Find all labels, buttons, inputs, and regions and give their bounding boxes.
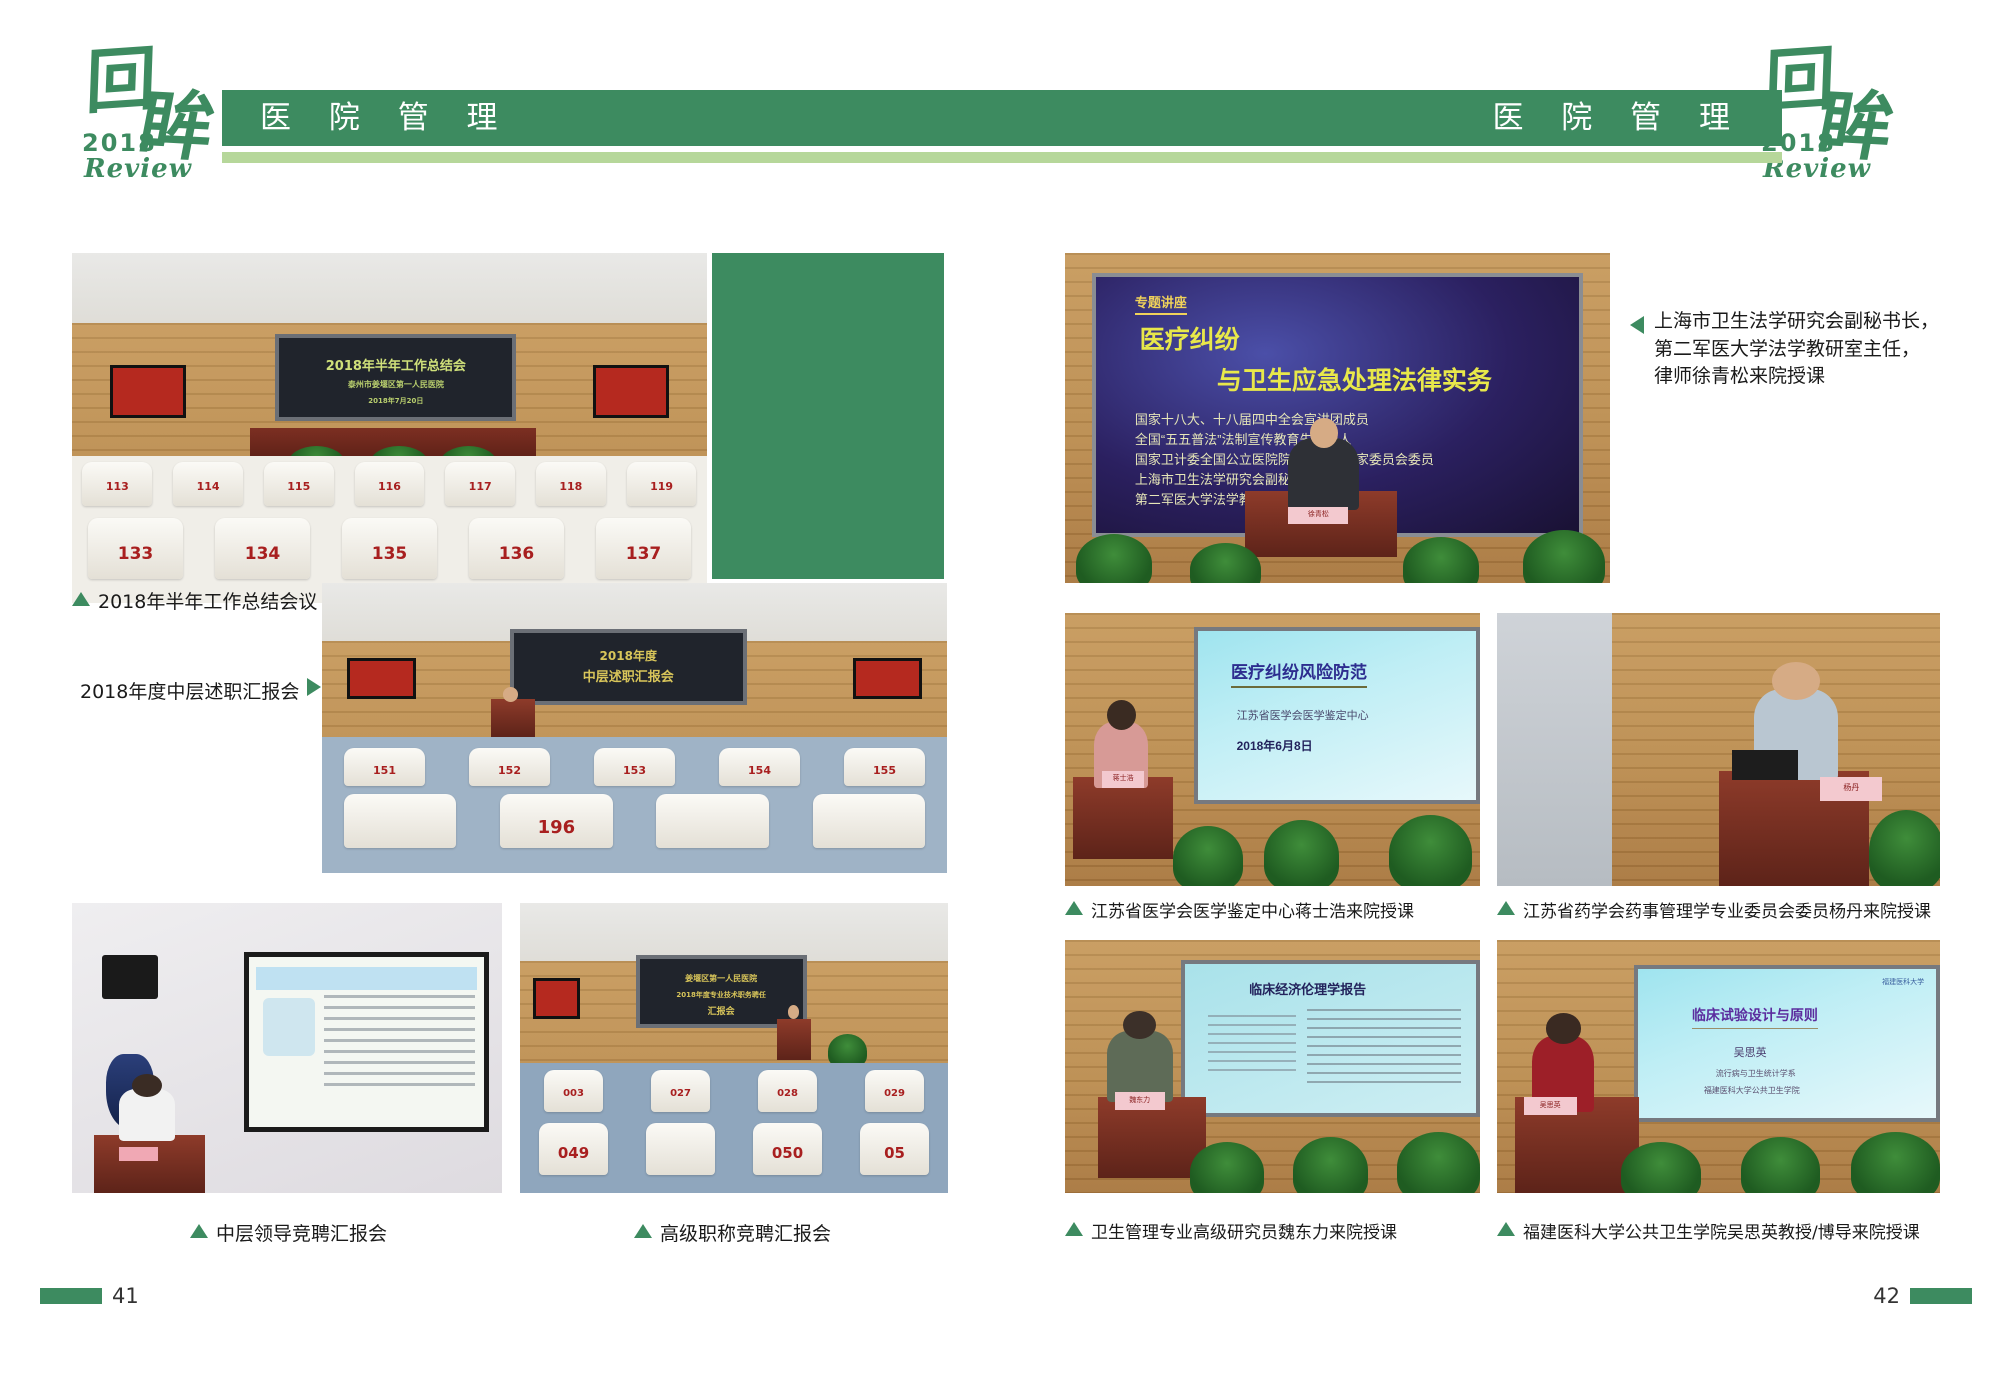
seat: 118 [536,462,606,506]
photo-podium [1073,777,1173,859]
seat [646,1123,714,1175]
photo-slide-surface: 临床经济伦理学报告 [1185,964,1476,1113]
caption-text: 高级职称竞聘汇报会 [660,1223,831,1245]
seat: 136 [469,518,564,580]
photo-slide-subtitle: 中层述职汇报会 [514,666,744,685]
seat: 196 [500,794,613,849]
photo-stage-screen: 2018年度 中层述职汇报会 [510,629,748,704]
seat: 028 [758,1070,818,1112]
caption-text: 福建医科大学公共卫生学院吴思英教授/博导来院授课 [1523,1223,1920,1243]
seat-number: 05 [860,1144,928,1162]
slide-body-line: 上海市卫生法学研究会副秘书长 [1135,470,1434,490]
seat [813,794,926,849]
photo-plant [1741,1137,1821,1193]
photo-speaker-head [1310,418,1337,448]
seat: 115 [264,462,334,506]
seat-number: 135 [342,544,437,564]
photo-slide-title: 临床试验设计与原则 [1692,1005,1818,1029]
photo-slide-tag: 专题讲座 [1135,292,1187,315]
caption-jiangsu-medical-appraisal: 江苏省医学会医学鉴定中心蒋士浩来院授课 [1065,900,1414,925]
photo-plant [1264,820,1339,886]
caption-text: 卫生管理专业高级研究员魏东力来院授课 [1091,1223,1397,1243]
seat-number: 028 [758,1088,818,1099]
slide-body-line: 全国“五五普法”法制宣传教育先进个人 [1135,430,1434,450]
seat-number: 137 [596,544,691,564]
photo-nameplate [119,1147,158,1162]
seat-number: 117 [445,480,515,493]
seat: 151 [344,748,425,786]
seat [344,794,457,849]
photo-jiangsu-medical-appraisal: 医疗纠纷风险防范 江苏省医学会医学鉴定中心 2018年6月8日 蒋士浩 [1065,613,1480,886]
seat: 113 [82,462,152,506]
photo-plant [1190,1142,1265,1193]
seat: 116 [355,462,425,506]
photo-slide-title: 姜堰区第一人民医院 [640,973,803,984]
caption-text: 中层领导竞聘汇报会 [216,1223,387,1245]
photo-stage-screen: 医疗纠纷风险防范 江苏省医学会医学鉴定中心 2018年6月8日 [1194,627,1480,804]
caption-line: 第二军医大学法学教研室主任， [1654,336,1960,364]
seat: 133 [88,518,183,580]
triangle-up-icon [1065,1222,1083,1236]
seat-row: 196 [322,794,947,849]
photo-slide-sub2: 福建医科大学公共卫生学院 [1704,1085,1800,1096]
caption-lecture-dispute-law: 上海市卫生法学研究会副秘书长， 第二军医大学法学教研室主任， 律师徐青松来院授课 [1630,308,1960,391]
footer-bar-left [40,1288,102,1304]
seat: 027 [651,1070,711,1112]
seat-row: 003 027 028 029 [520,1070,948,1112]
seat: 119 [627,462,697,506]
seat: 155 [844,748,925,786]
triangle-up-icon [1497,901,1515,915]
photo-speaker-body [1288,438,1359,511]
seat-number: 027 [651,1088,711,1099]
photo-podium [777,1019,811,1060]
photo-slide-title: 临床经济伦理学报告 [1249,979,1366,998]
seat: 003 [544,1070,604,1112]
photo-jiangsu-pharmacy-association: 杨丹 [1497,613,1940,886]
caption-meeting-2018: 2018年半年工作总结会议 [72,589,317,617]
photo-slide-title: 2018年半年工作总结会 [279,355,512,374]
photo-slide-name: 吴思英 [1734,1044,1767,1060]
seat-number: 151 [344,764,425,777]
photo-projection-screen [244,952,489,1132]
brand-logo-right: 回 眸 2018 Review [1757,44,1932,179]
seat-number: 115 [264,480,334,493]
seat-number: 003 [544,1088,604,1099]
photo-podium [94,1135,206,1193]
photo-senior-title-competition: 姜堰区第一人民医院 2018年度专业技术职务聘任 汇报会 003 027 028… [520,903,948,1193]
photo-slide-title: 2018年度 [514,647,744,664]
seat-number: 049 [539,1144,607,1162]
photo-slide-title: 医疗纠纷风险防范 [1231,658,1367,688]
page-number-right: 42 [1873,1284,1900,1308]
photo-stage-screen: 临床经济伦理学报告 [1181,960,1480,1117]
photo-plant [1293,1137,1368,1193]
seat: 134 [215,518,310,580]
seat-number: 196 [500,817,613,838]
brand-year: 2018 [82,129,157,157]
seat: 153 [594,748,675,786]
slide-body-text [1307,1009,1461,1086]
seat-number: 136 [469,544,564,564]
seat-row: 151 152 153 154 155 [322,748,947,786]
seat: 152 [469,748,550,786]
photo-nameplate: 杨丹 [1820,777,1882,802]
magazine-spread: 回 眸 2018 Review 回 眸 2018 Review 医 院 管 理 … [0,0,2012,1374]
photo-lecture-medical-dispute-law: 专题讲座 医疗纠纷 与卫生应急处理法律实务 国家十八大、十八届四中全会宣讲团成员… [1065,253,1610,583]
seat-row: 049 050 05 [520,1123,948,1175]
photo-midlevel-report-hall: 2018年度 中层述职汇报会 151 152 153 154 155 196 [322,583,947,873]
photo-speaker-head [1123,1011,1156,1039]
seat [656,794,769,849]
caption-jiangsu-pharmacy: 江苏省药学会药事管理学专业委员会委员杨丹来院授课 [1497,900,1931,925]
seat: 050 [753,1123,821,1175]
caption-health-management: 卫生管理专业高级研究员魏东力来院授课 [1065,1221,1397,1246]
photo-slide-surface: 医疗纠纷风险防范 江苏省医学会医学鉴定中心 2018年6月8日 [1198,631,1476,800]
slide-header-band [256,967,477,989]
photo-side-tv-left [110,365,186,418]
photo-wall-speaker [102,955,158,999]
slide-chart [1208,1015,1295,1078]
seat: 137 [596,518,691,580]
photo-speaker-head [1107,700,1136,730]
brand-mark-hui: 回 [85,44,152,118]
photo-plant [1173,826,1244,886]
photo-slide-date: 2018年7月20日 [279,396,512,406]
seat-number: 050 [753,1144,821,1162]
seat: 154 [719,748,800,786]
photo-speaker-head [1546,1013,1581,1043]
brand-review-word: Review [84,154,192,184]
photo-nameplate: 魏东力 [1115,1092,1165,1110]
photo-side-tv-left [347,658,416,699]
title-underbar-right [1006,152,1782,163]
photo-midlevel-leader-competition [72,903,502,1193]
seat: 135 [342,518,437,580]
seat-number: 114 [173,480,243,493]
photo-side-tv-left [533,978,580,1019]
photo-plant [1523,530,1605,583]
photo-laptop [1732,750,1798,780]
seat-number: 029 [865,1088,925,1099]
triangle-left-icon [1630,316,1644,334]
slide-image-placeholder [263,998,315,1056]
photo-nameplate: 徐青松 [1288,507,1348,524]
section-title-bar-right: 医 院 管 理 [1006,90,1782,146]
caption-midlevel-report: 2018年度中层述职汇报会 [80,678,321,707]
section-title-right: 医 院 管 理 [1492,90,1744,146]
seat-number: 113 [82,480,152,493]
seat: 029 [865,1070,925,1112]
seat-number: 154 [719,764,800,777]
caption-text: 江苏省药学会药事管理学专业委员会委员杨丹来院授课 [1523,902,1931,922]
photo-plant [1389,815,1472,886]
triangle-up-icon [1065,901,1083,915]
photo-slide-line2: 与卫生应急处理法律实务 [1217,361,1492,397]
seat-number: 153 [594,764,675,777]
photo-ceiling [72,253,707,330]
seat: 05 [860,1123,928,1175]
photo-audience-seating: 003 027 028 029 049 050 05 [520,1063,948,1194]
photo-stage-screen: 2018年半年工作总结会 泰州市姜堰区第一人民医院 2018年7月20日 [275,334,516,422]
photo-podium [491,699,535,737]
photo-meeting-hall-2018: 2018年半年工作总结会 泰州市姜堰区第一人民医院 2018年7月20日 113… [72,253,707,603]
seat-number: 155 [844,764,925,777]
photo-plant [1397,1132,1480,1193]
triangle-right-icon [307,678,321,696]
photo-side-wall [1497,613,1612,886]
photo-slide-line1: 医疗纠纷 [1140,320,1240,356]
caption-text: 江苏省医学会医学鉴定中心蒋士浩来院授课 [1091,902,1414,922]
triangle-up-icon [634,1224,652,1238]
photo-side-tv-right [853,658,922,699]
decorative-green-block [712,253,944,579]
slide-body-line: 国家十八大、十八届四中全会宣讲团成员 [1135,410,1434,430]
photo-side-tv-right [593,365,669,418]
photo-slide-subtitle: 江苏省医学会医学鉴定中心 [1237,707,1369,723]
triangle-up-icon [1497,1222,1515,1236]
seat-number: 134 [215,544,310,564]
caption-line: 律师徐青松来院授课 [1654,363,1960,391]
slide-university-logo: 福建医科大学 [1882,977,1924,987]
seat-number: 116 [355,480,425,493]
seat: 114 [173,462,243,506]
seat-number: 152 [469,764,550,777]
photo-slide-subtitle: 泰州市姜堰区第一人民医院 [279,379,512,390]
seat-number: 119 [627,480,697,493]
caption-text: 2018年半年工作总结会议 [98,591,317,613]
photo-plant [1851,1132,1940,1193]
footer-bar-right [1910,1288,1972,1304]
photo-slide-date: 2018年6月8日 [1237,737,1313,754]
photo-plant [1621,1142,1701,1193]
photo-audience-seating: 151 152 153 154 155 196 [322,737,947,873]
seat-row: 133 134 135 136 137 [72,518,707,580]
seat-row: 113 114 115 116 117 118 119 [72,462,707,506]
photo-slide-surface: 福建医科大学 临床试验设计与原则 吴思英 流行病与卫生统计学系 福建医科大学公共… [1638,969,1936,1118]
page-number-left: 41 [112,1284,139,1308]
photo-stage-screen: 姜堰区第一人民医院 2018年度专业技术职务聘任 汇报会 [636,955,807,1028]
section-title-left: 医 院 管 理 [222,100,512,136]
photo-nameplate: 蒋士浩 [1102,771,1144,787]
seat-number: 118 [536,480,606,493]
photo-audience-seating: 113 114 115 116 117 118 119 133 134 135 … [72,456,707,603]
photo-fujian-public-health: 福建医科大学 临床试验设计与原则 吴思英 流行病与卫生统计学系 福建医科大学公共… [1497,940,1940,1193]
caption-senior-title: 高级职称竞聘汇报会 [634,1221,831,1249]
caption-line: 上海市卫生法学研究会副秘书长， [1654,308,1960,336]
caption-fujian-public-health: 福建医科大学公共卫生学院吴思英教授/博导来院授课 [1497,1221,1920,1246]
seat-number: 133 [88,544,183,564]
photo-health-management-researcher: 临床经济伦理学报告 魏东力 [1065,940,1480,1193]
slide-body-line: 国家卫计委全国公立医院院长职业化专家委员会委员 [1135,450,1434,470]
photo-stage-screen: 福建医科大学 临床试验设计与原则 吴思英 流行病与卫生统计学系 福建医科大学公共… [1634,965,1940,1122]
caption-text: 2018年度中层述职汇报会 [80,681,299,703]
slide-body-text [324,995,474,1093]
triangle-up-icon [190,1224,208,1238]
seat: 049 [539,1123,607,1175]
photo-slide-sub2: 汇报会 [640,1004,803,1017]
photo-plant [1869,810,1940,886]
caption-midlevel-leader: 中层领导竞聘汇报会 [190,1221,387,1249]
photo-slide-sub1: 流行病与卫生统计学系 [1716,1068,1796,1079]
photo-nameplate: 吴思英 [1524,1097,1577,1115]
triangle-up-icon [72,592,90,606]
photo-slide-subtitle: 2018年度专业技术职务聘任 [640,990,803,1000]
seat: 117 [445,462,515,506]
